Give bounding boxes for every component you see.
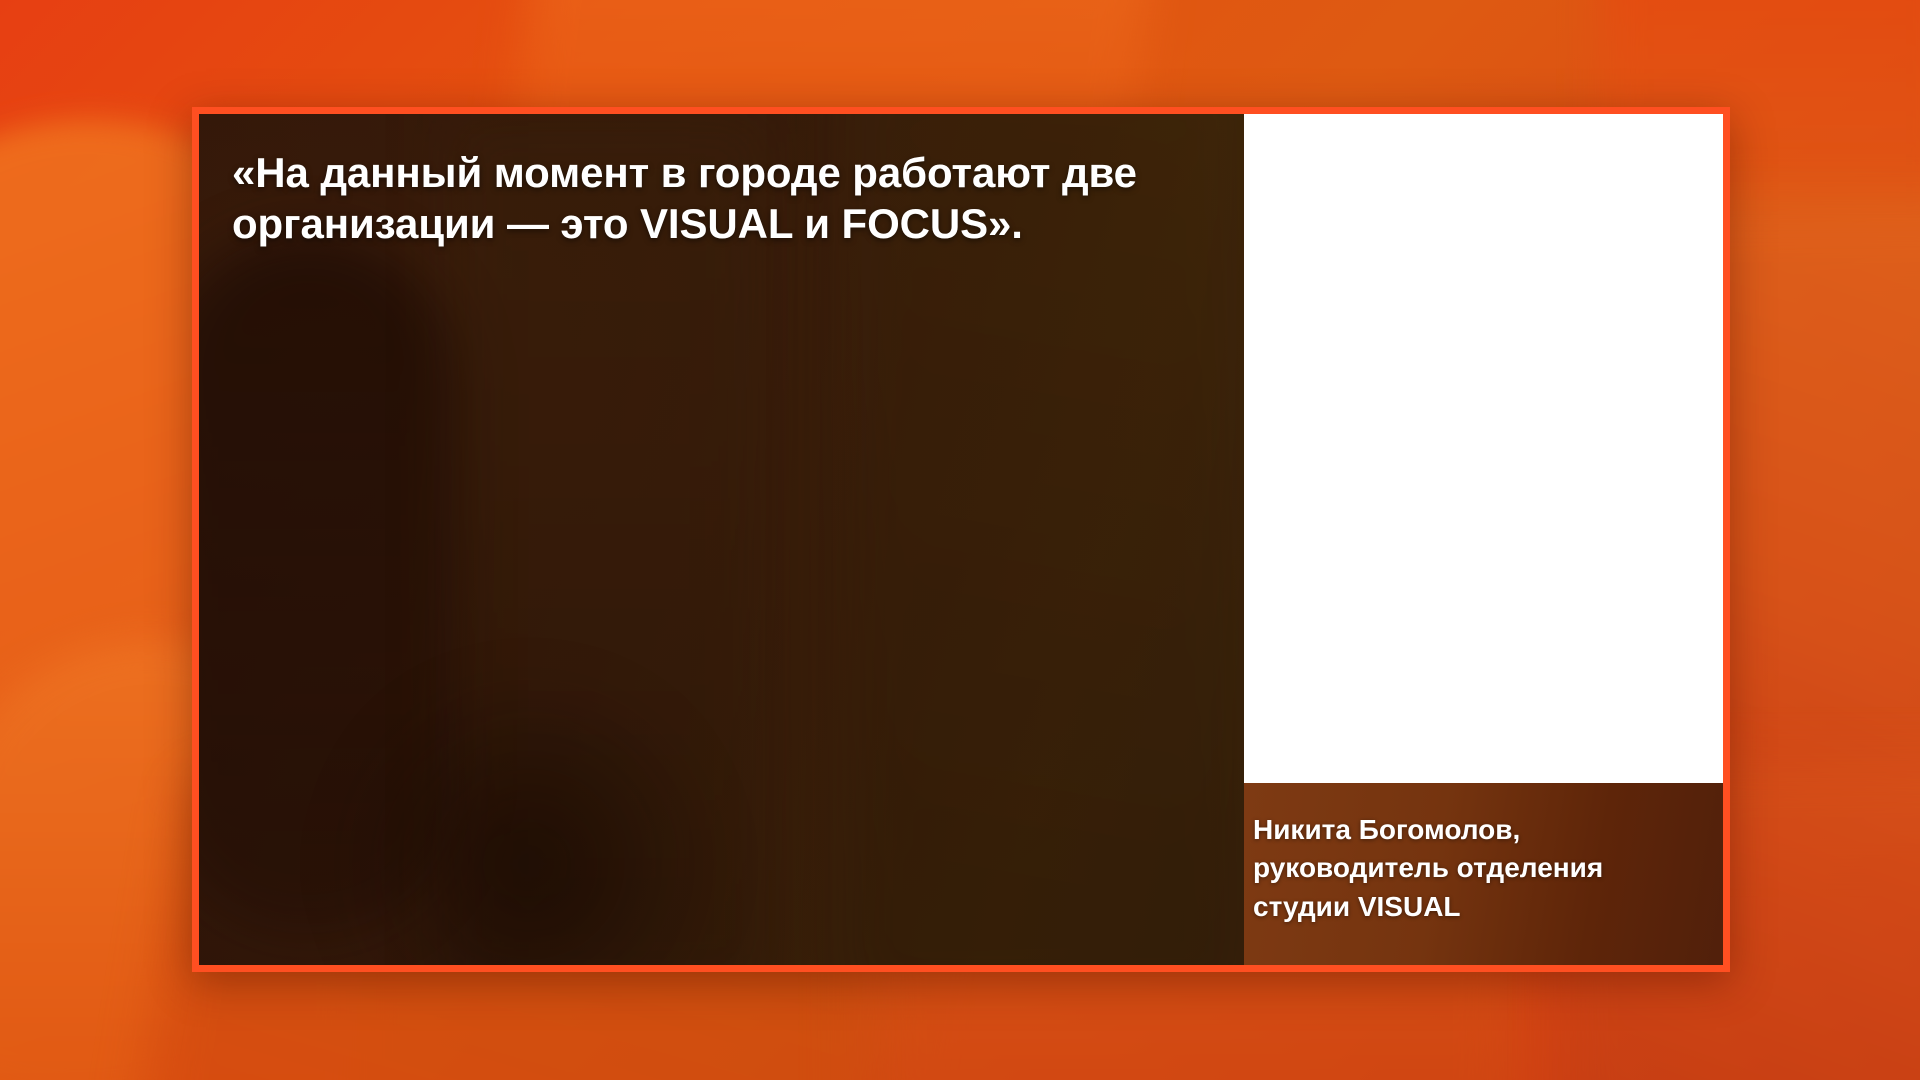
quote-card: «На данный момент в городе работают две … <box>192 107 1730 972</box>
attribution-band: Никита Богомолов, руководитель отделения… <box>1244 783 1724 972</box>
attribution-line-1: Никита Богомолов, <box>1253 811 1706 849</box>
portrait-column: Никита Богомолов, руководитель отделения… <box>1244 112 1724 972</box>
slide-stage: «На данный момент в городе работают две … <box>0 0 1920 1080</box>
attribution-line-2: руководитель отделения <box>1253 849 1706 887</box>
card-texture-shape-d <box>319 674 739 972</box>
quote-line-2: организации — это VISUAL и FOCUS». <box>232 198 1112 249</box>
portrait-image <box>1244 112 1724 783</box>
attribution-line-3: студии VISUAL <box>1253 888 1706 926</box>
quote-text: «На данный момент в городе работают две … <box>232 147 1112 249</box>
card-texture-shape-a <box>192 234 459 934</box>
quote-line-1: «На данный момент в городе работают две <box>232 147 1112 198</box>
attribution-text: Никита Богомолов, руководитель отделения… <box>1253 811 1706 926</box>
